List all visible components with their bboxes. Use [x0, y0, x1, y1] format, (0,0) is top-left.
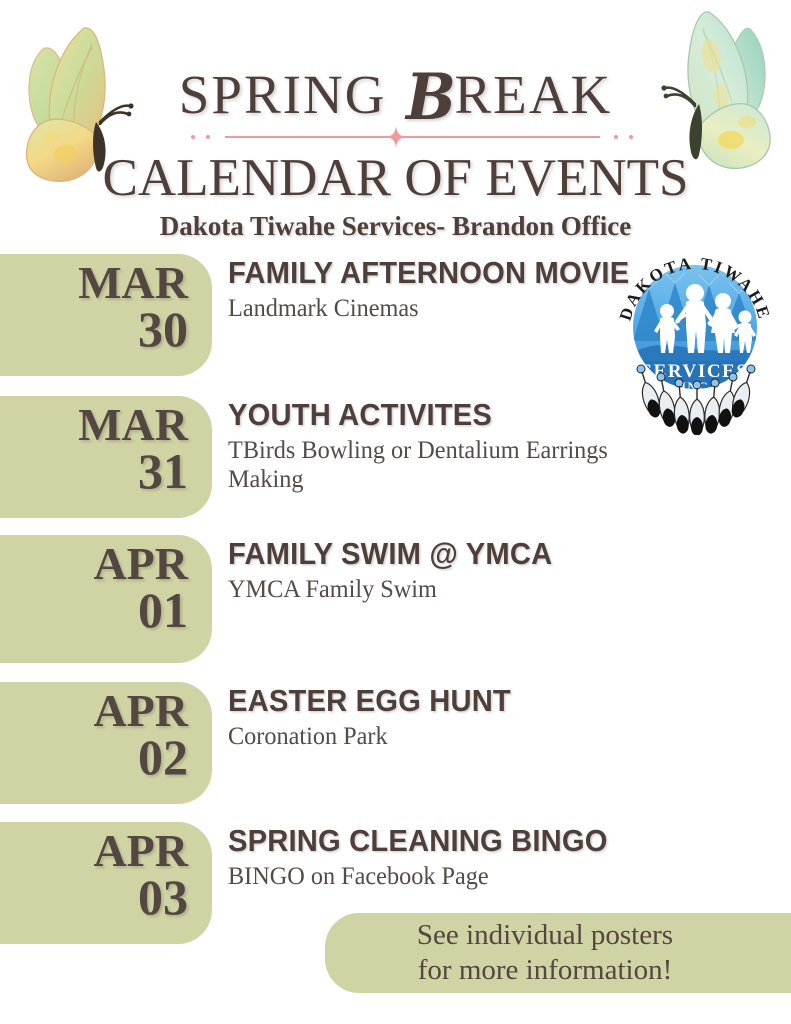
date-day: 02 — [0, 733, 188, 782]
event-description: TBirds Bowling or Dentalium Earrings Mak… — [228, 436, 689, 495]
title-word-break-rest: REAK — [454, 43, 612, 130]
date-badge: MAR 31 — [0, 396, 212, 518]
date-day: 01 — [0, 586, 188, 635]
event-title: FAMILY SWIM @ YMCA — [228, 535, 675, 573]
event-description: BINGO on Facebook Page — [228, 862, 689, 892]
divider-dot-right-outer — [629, 135, 633, 139]
info-note-line2: for more information! — [417, 953, 673, 988]
date-month: APR — [0, 541, 188, 586]
event-title: SPRING CLEANING BINGO — [228, 822, 675, 860]
info-note-box: See individual posters for more informat… — [325, 913, 791, 993]
poster-title-block: SPRINGBREAK — [0, 38, 791, 125]
divider-line-left — [225, 136, 395, 138]
date-month: APR — [0, 688, 188, 733]
date-badge: APR 01 — [0, 535, 212, 663]
event-details: FAMILY SWIM @ YMCA YMCA Family Swim — [228, 535, 703, 604]
four-point-star-icon — [385, 126, 407, 148]
date-badge: MAR 30 — [0, 254, 212, 376]
divider-dot-left-outer — [191, 135, 195, 139]
date-month: MAR — [0, 260, 188, 305]
info-note-line1: See individual posters — [417, 918, 673, 953]
ornamental-b-glyph: B — [406, 44, 452, 131]
event-details: EASTER EGG HUNT Coronation Park — [228, 682, 703, 751]
event-title: YOUTH ACTIVITES — [228, 396, 675, 434]
title-word-break: BREAK — [404, 43, 612, 130]
divider-line-right — [397, 136, 600, 138]
organization-line: Dakota Tiwahe Services- Brandon Office — [0, 211, 791, 242]
title-word-spring: SPRING — [179, 43, 387, 130]
info-note-text: See individual posters for more informat… — [417, 918, 699, 989]
title-divider — [0, 126, 791, 148]
event-details: FAMILY AFTERNOON MOVIE Landmark Cinemas — [228, 254, 703, 323]
page-subtitle: CALENDAR OF EVENTS — [0, 148, 791, 208]
event-details: YOUTH ACTIVITES TBirds Bowling or Dental… — [228, 396, 703, 495]
spring-break-calendar-poster: SPRINGBREAK CALENDAR OF EVENTS Dakota Ti… — [0, 0, 791, 1024]
date-month: APR — [0, 828, 188, 873]
date-day: 03 — [0, 873, 188, 922]
event-description: Landmark Cinemas — [228, 294, 689, 324]
event-details: SPRING CLEANING BINGO BINGO on Facebook … — [228, 822, 703, 891]
date-badge: APR 03 — [0, 822, 212, 944]
divider-dot-right-inner — [614, 135, 618, 139]
event-description: YMCA Family Swim — [228, 575, 689, 605]
title-spring-break: SPRINGBREAK — [0, 38, 791, 125]
date-month: MAR — [0, 402, 188, 447]
event-title: EASTER EGG HUNT — [228, 682, 675, 720]
event-description: Coronation Park — [228, 722, 689, 752]
divider-dot-left-inner — [206, 135, 210, 139]
event-title: FAMILY AFTERNOON MOVIE — [228, 254, 675, 292]
date-day: 30 — [0, 305, 188, 354]
date-badge: APR 02 — [0, 682, 212, 804]
date-day: 31 — [0, 447, 188, 496]
